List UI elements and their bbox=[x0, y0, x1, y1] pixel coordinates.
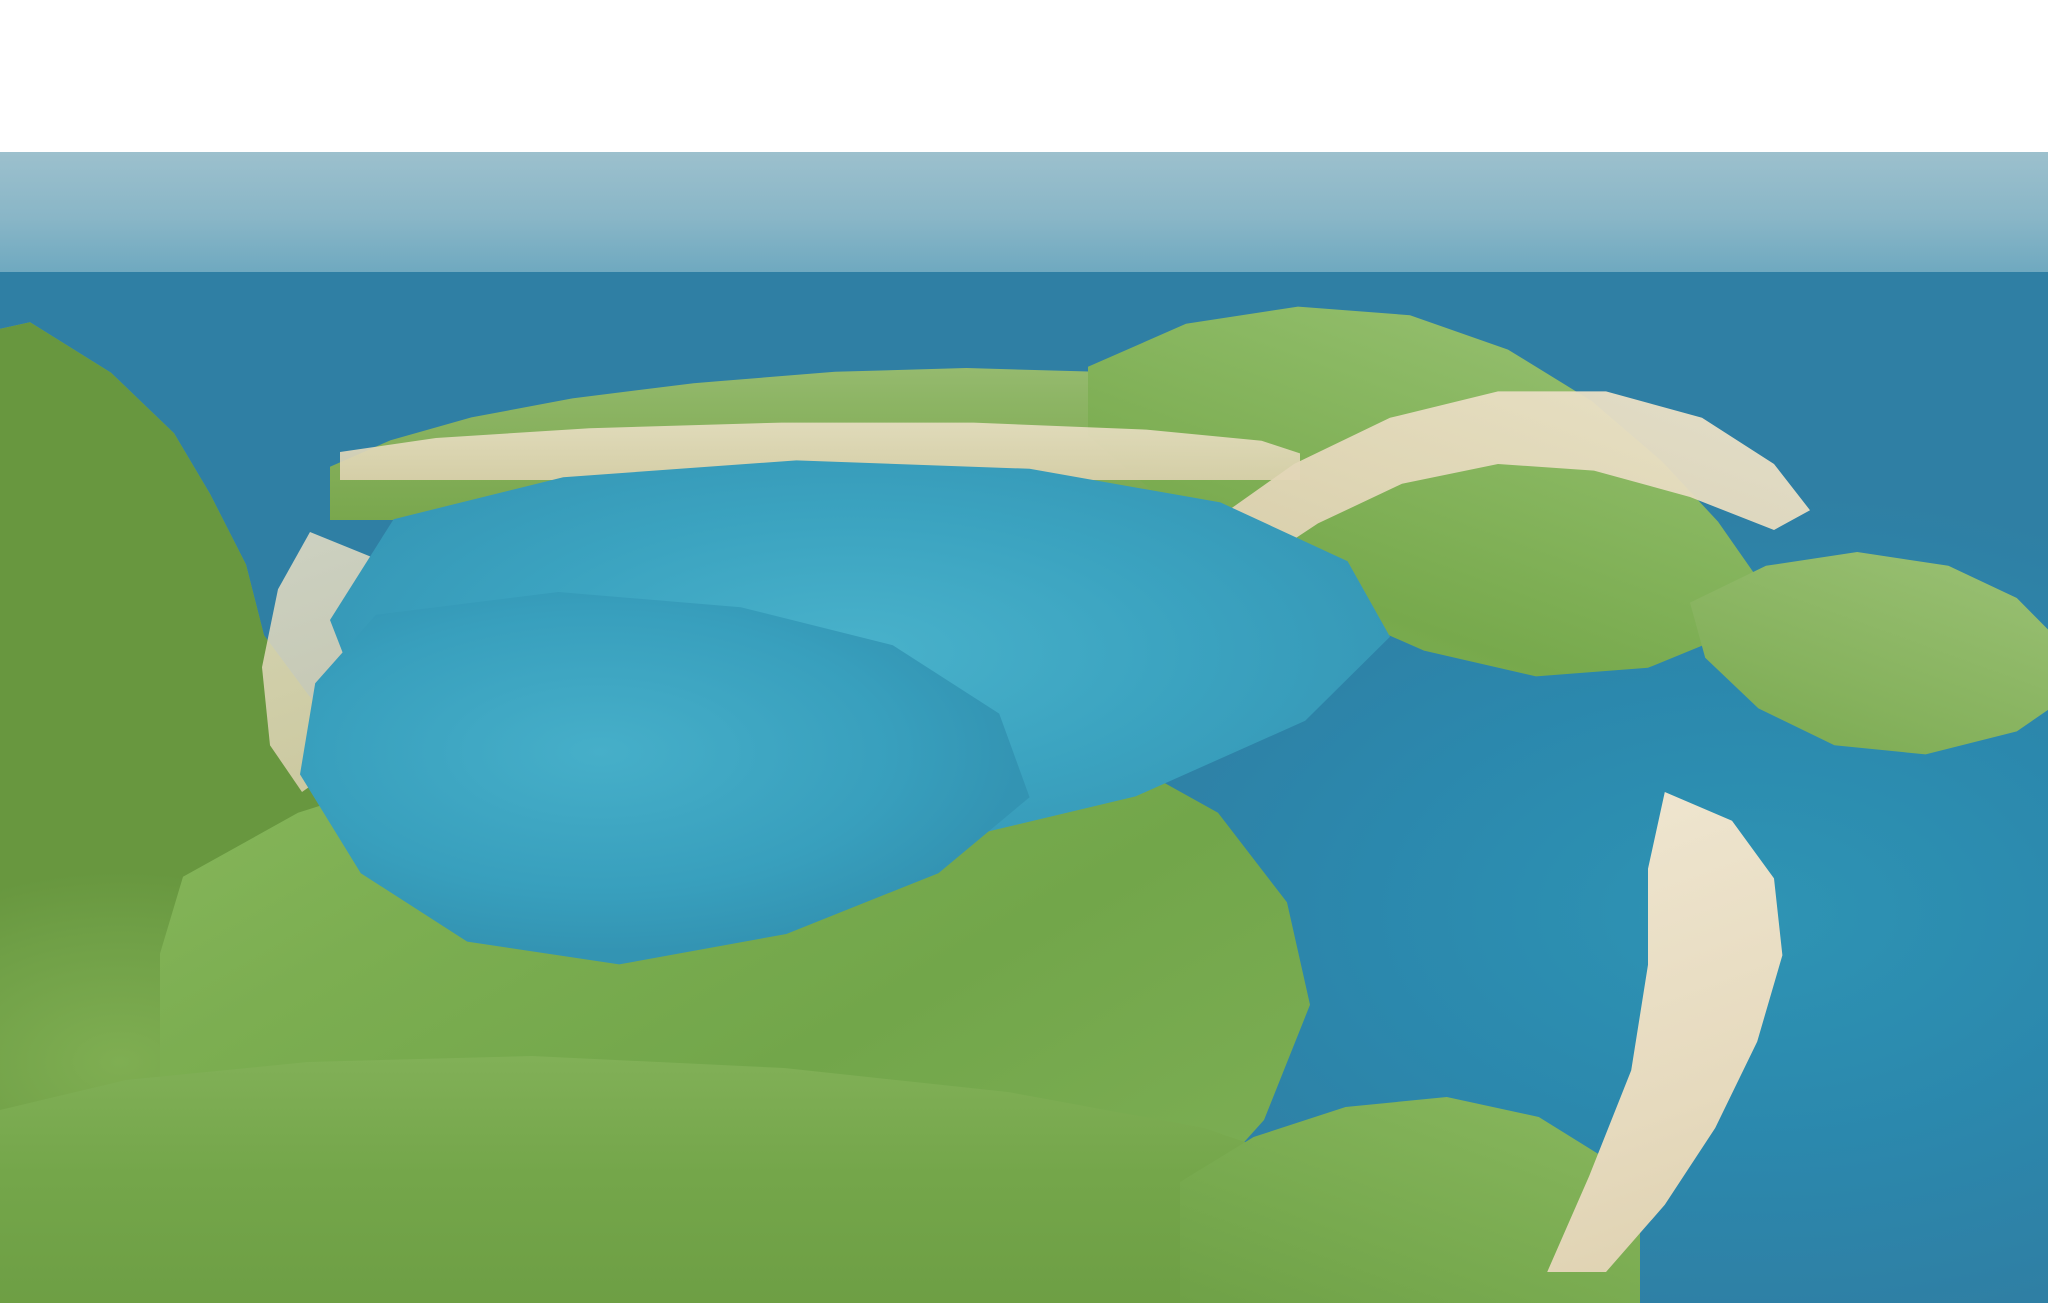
horizon-haze bbox=[0, 152, 2048, 272]
quay-west bbox=[250, 532, 450, 792]
beach-east bbox=[1480, 792, 1900, 1272]
beach-northeast bbox=[1210, 332, 1810, 662]
land-south-east bbox=[1180, 1082, 1640, 1303]
harbour-basin bbox=[330, 452, 1390, 872]
land-south bbox=[0, 1032, 1400, 1303]
sea-background bbox=[0, 152, 2048, 1303]
beach-north-spit bbox=[340, 410, 1300, 480]
resort-map[interactable] bbox=[0, 152, 2048, 1303]
land-northeast-arm bbox=[1060, 298, 1760, 728]
land-central-park bbox=[160, 672, 1310, 1303]
land-west-shore bbox=[0, 302, 840, 1303]
marina-basin bbox=[300, 592, 1060, 972]
land-north-spit bbox=[330, 330, 1340, 520]
page-title bbox=[0, 0, 2048, 152]
land-east-tip bbox=[1690, 552, 2048, 782]
